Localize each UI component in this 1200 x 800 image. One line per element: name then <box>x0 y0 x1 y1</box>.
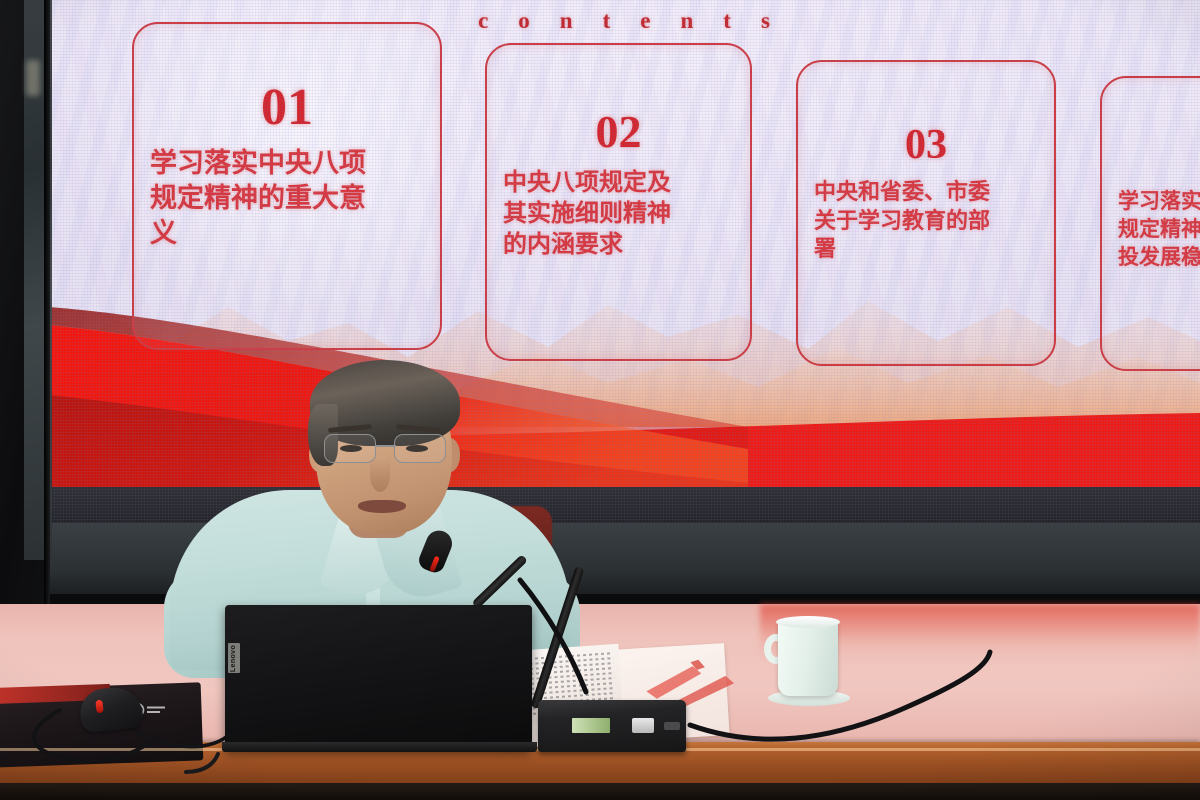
card-text-04: 学习落实中央 规定精神，推 投发展稳步 <box>1118 188 1200 272</box>
header-letter-c: c <box>478 8 488 34</box>
contents-card-03: 03 中央和省委、市委 关于学习教育的部 署 <box>796 60 1056 366</box>
header-letter-t2: t <box>723 8 731 34</box>
card-04-line-1: 学习落实中央 <box>1118 188 1200 216</box>
header-letter-o: o <box>518 8 530 34</box>
microphone-mute-button[interactable] <box>632 718 654 733</box>
contents-card-02: 02 中央八项规定及 其实施细则精神 的内涵要求 <box>485 43 752 361</box>
card-text-03: 中央和省委、市委 关于学习教育的部 署 <box>814 178 1038 264</box>
conference-room-photo: c o n t e n t s <box>0 0 1200 800</box>
card-03-line-2: 关于学习教育的部 <box>814 207 1038 236</box>
card-01-line-2: 规定精神的重大意 <box>150 181 424 216</box>
eyeglass-lens-left <box>324 434 376 463</box>
card-03-line-3: 署 <box>814 235 1038 264</box>
card-number-03: 03 <box>814 124 1038 166</box>
laptop-base <box>222 742 537 752</box>
laptop-lid[interactable] <box>225 605 532 750</box>
mug-rim <box>776 616 840 628</box>
microphone-port <box>664 722 680 730</box>
card-01-line-3: 义 <box>150 216 424 251</box>
laptop-brand-text: Lenovo <box>231 644 238 671</box>
header-letter-s: s <box>761 8 770 34</box>
header-letter-n1: n <box>560 8 573 34</box>
card-number-04: 04 <box>1118 136 1200 176</box>
card-text-02: 中央八项规定及 其实施细则精神 的内涵要求 <box>503 167 734 261</box>
mouth <box>358 500 406 513</box>
card-04-line-2: 规定精神，推 <box>1118 216 1200 244</box>
card-number-02: 02 <box>503 109 734 155</box>
mug-body[interactable] <box>778 620 838 696</box>
header-letter-n2: n <box>680 8 693 34</box>
slide-contents-cards: 01 学习落实中央八项 规定精神的重大意 义 02 中央八项规定及 其实施细则精… <box>48 0 1200 380</box>
desk-front-panel <box>0 783 1200 800</box>
card-01-line-1: 学习落实中央八项 <box>150 146 424 181</box>
nose <box>370 458 390 492</box>
mouse-scroll-light <box>95 700 103 714</box>
card-04-line-3: 投发展稳步 <box>1118 244 1200 272</box>
card-02-line-2: 其实施细则精神 <box>503 198 734 229</box>
card-text-01: 学习落实中央八项 规定精神的重大意 义 <box>150 146 424 251</box>
contents-card-04: 04 学习落实中央 规定精神，推 投发展稳步 <box>1100 76 1200 371</box>
card-03-line-1: 中央和省委、市委 <box>814 178 1038 207</box>
header-letter-t1: t <box>603 8 611 34</box>
card-02-line-1: 中央八项规定及 <box>503 167 734 198</box>
eyeglass-lens-right <box>394 434 446 463</box>
contents-card-01: 01 学习落实中央八项 规定精神的重大意 义 <box>132 22 442 350</box>
card-number-01: 01 <box>150 82 424 134</box>
eyeglass-bridge <box>376 445 396 447</box>
header-letter-e: e <box>640 8 650 34</box>
lenovo-logo: Lenovo <box>228 643 240 673</box>
slide-header-contents: c o n t e n t s <box>48 0 1200 34</box>
card-02-line-3: 的内涵要求 <box>503 229 734 260</box>
microphone-label-sticker <box>572 718 610 733</box>
